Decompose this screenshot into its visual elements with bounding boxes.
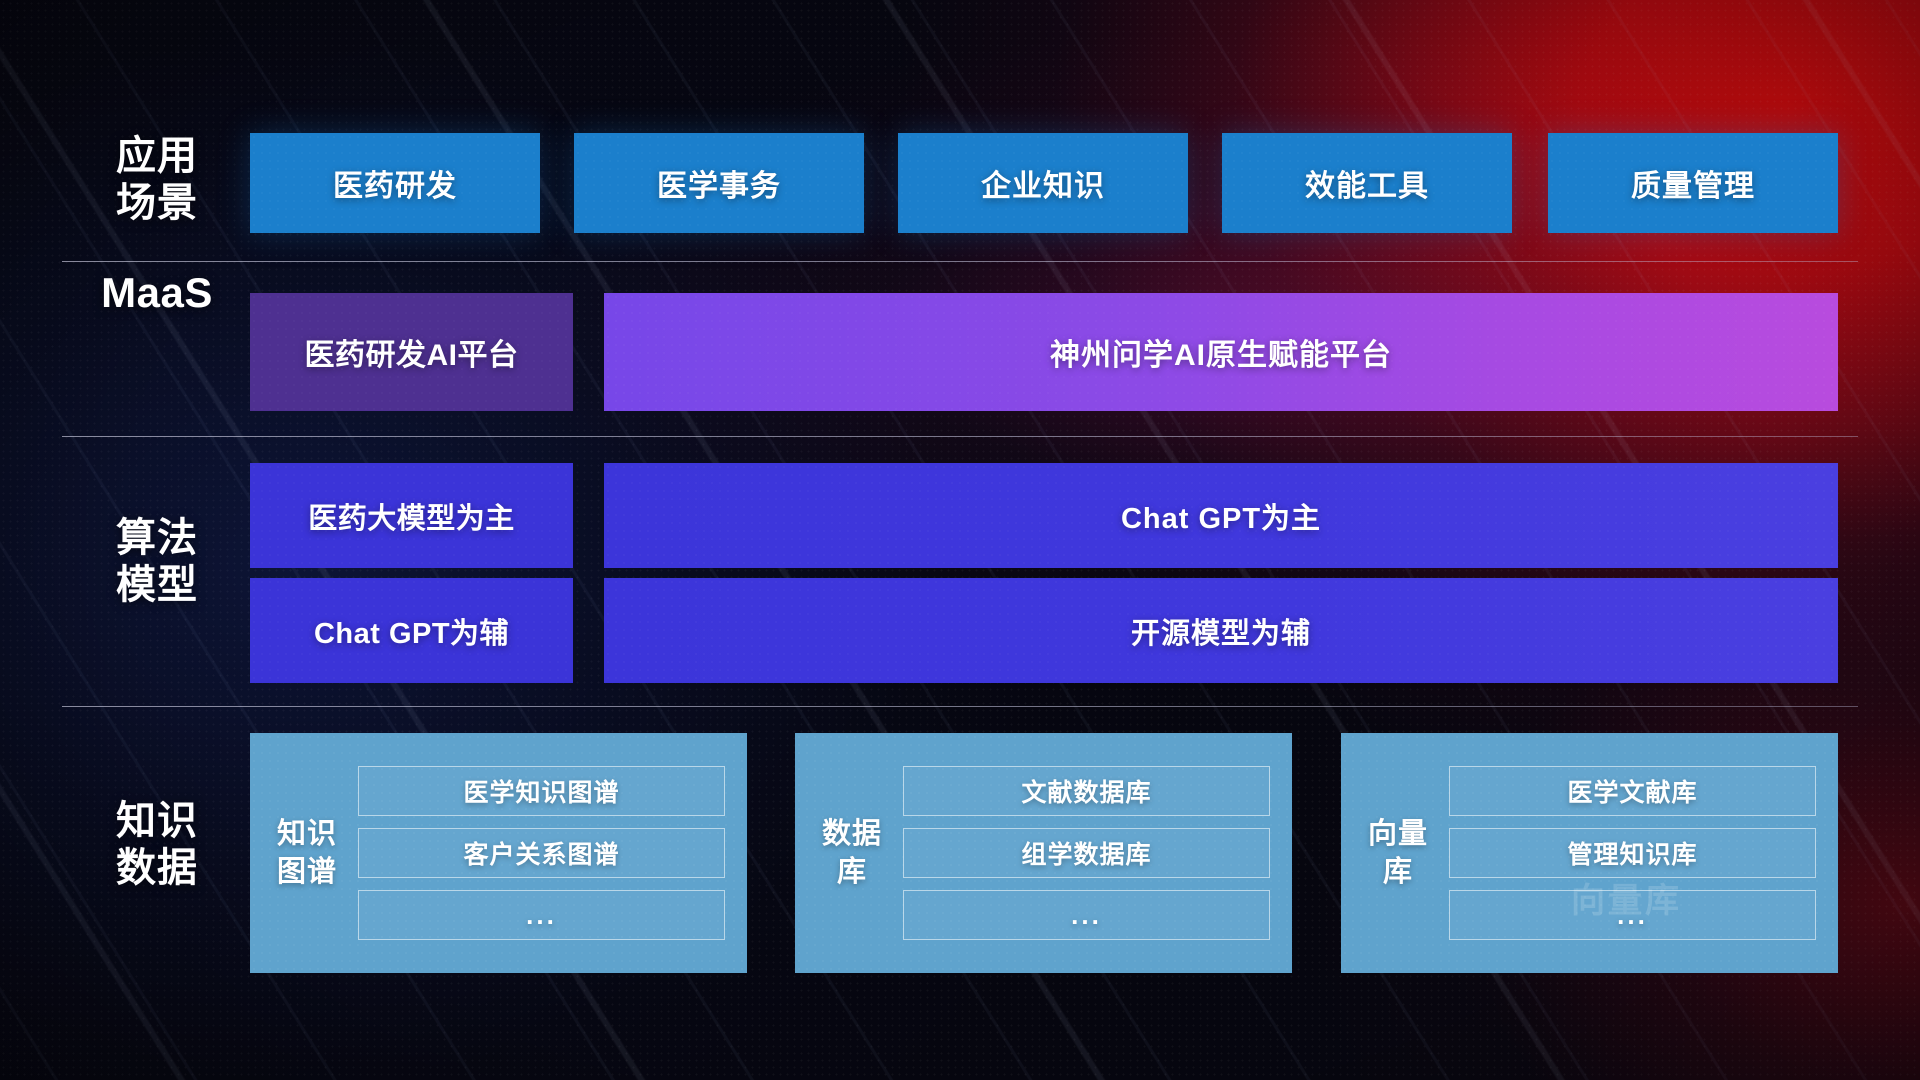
maas-enablement-platform-box[interactable]: 神州问学AI原生赋能平台 <box>604 293 1838 411</box>
knowledge-item-label: ... <box>1617 900 1648 931</box>
knowledge-item[interactable]: 客户关系图谱 <box>358 828 725 878</box>
algo-wide-box-2[interactable]: 开源模型为辅 <box>604 578 1838 683</box>
knowledge-item-more[interactable]: ... <box>358 890 725 940</box>
knowledge-group-database[interactable]: 数据库 文献数据库 组学数据库 ... <box>795 733 1292 973</box>
knowledge-item-label: 客户关系图谱 <box>463 835 619 871</box>
app-scenario-box-3[interactable]: 企业知识 <box>898 133 1188 233</box>
knowledge-group-label-database: 数据库 <box>819 815 885 892</box>
row-divider-1 <box>62 261 1858 262</box>
row-divider-3 <box>62 706 1858 707</box>
app-scenario-box-2[interactable]: 医学事务 <box>574 133 864 233</box>
algo-wide-box-1[interactable]: Chat GPT为主 <box>604 463 1838 568</box>
algo-wide-label-2: 开源模型为辅 <box>1131 610 1311 652</box>
maas-platform-box[interactable]: 医药研发AI平台 <box>250 293 573 411</box>
knowledge-item-list-vector-database: 医学文献库 管理知识库 ... <box>1431 746 1838 960</box>
knowledge-item-list-knowledge-graph: 医学知识图谱 客户关系图谱 ... <box>340 746 747 960</box>
row-divider-2 <box>62 436 1858 437</box>
knowledge-item[interactable]: 医学知识图谱 <box>358 766 725 816</box>
knowledge-item[interactable]: 医学文献库 <box>1449 766 1816 816</box>
slide-canvas: 应用 场景 医药研发 医学事务 企业知识 效能工具 质量管理 MaaS 医药研发… <box>0 0 1920 1080</box>
knowledge-item-label: 文献数据库 <box>1021 773 1151 809</box>
knowledge-item[interactable]: 管理知识库 <box>1449 828 1816 878</box>
row-label-knowledge-data: 知识 数据 <box>62 798 252 892</box>
algo-wide-label-1: Chat GPT为主 <box>1121 495 1321 537</box>
app-scenario-label-2: 医学事务 <box>657 161 781 205</box>
maas-enablement-platform-label: 神州问学AI原生赋能平台 <box>1050 330 1392 374</box>
knowledge-item-label: 组学数据库 <box>1021 835 1151 871</box>
app-scenario-label-4: 效能工具 <box>1305 161 1429 205</box>
row-label-algorithm-model: 算法 模型 <box>62 515 252 609</box>
knowledge-group-label-vector-database: 向量库 <box>1365 815 1431 892</box>
app-scenario-label-5: 质量管理 <box>1631 161 1755 205</box>
app-scenario-label-3: 企业知识 <box>981 161 1105 205</box>
algo-left-label-2: Chat GPT为辅 <box>314 610 509 652</box>
app-scenario-box-1[interactable]: 医药研发 <box>250 133 540 233</box>
knowledge-group-vector-database[interactable]: 向量库 向量库 医学文献库 管理知识库 ... <box>1341 733 1838 973</box>
app-scenario-box-5[interactable]: 质量管理 <box>1548 133 1838 233</box>
knowledge-item-label: ... <box>1071 900 1102 931</box>
knowledge-item-label: 医学知识图谱 <box>463 773 619 809</box>
app-scenario-box-4[interactable]: 效能工具 <box>1222 133 1512 233</box>
algo-left-box-2[interactable]: Chat GPT为辅 <box>250 578 573 683</box>
algo-left-box-1[interactable]: 医药大模型为主 <box>250 463 573 568</box>
knowledge-group-knowledge-graph[interactable]: 知识图谱 医学知识图谱 客户关系图谱 ... <box>250 733 747 973</box>
app-scenario-label-1: 医药研发 <box>333 161 457 205</box>
knowledge-item-label: 医学文献库 <box>1567 773 1697 809</box>
knowledge-item-label: 管理知识库 <box>1567 835 1697 871</box>
maas-platform-label: 医药研发AI平台 <box>305 330 519 374</box>
knowledge-item-more[interactable]: ... <box>903 890 1270 940</box>
knowledge-item[interactable]: 组学数据库 <box>903 828 1270 878</box>
row-label-maas: MaaS <box>62 268 252 318</box>
knowledge-item-label: ... <box>526 900 557 931</box>
knowledge-item[interactable]: 文献数据库 <box>903 766 1270 816</box>
algo-left-label-1: 医药大模型为主 <box>308 495 515 537</box>
knowledge-item-more[interactable]: ... <box>1449 890 1816 940</box>
knowledge-group-label-knowledge-graph: 知识图谱 <box>274 815 340 892</box>
knowledge-item-list-database: 文献数据库 组学数据库 ... <box>885 746 1292 960</box>
row-label-application-scenarios: 应用 场景 <box>62 133 252 227</box>
